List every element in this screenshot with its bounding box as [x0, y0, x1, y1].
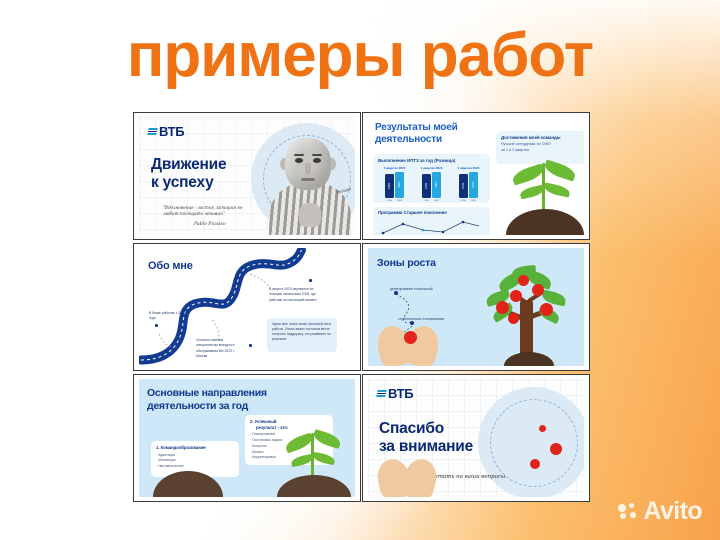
kpi-foot: план факт [384, 199, 406, 202]
sprout-leaf-right-2 [312, 452, 335, 465]
photo-hand [299, 203, 321, 227]
tree-apple-2 [532, 284, 544, 296]
kpi-foot-plan: план [422, 199, 431, 202]
apple-middle [550, 443, 562, 455]
kpi-bars: 101% 121% [458, 172, 480, 198]
hands-illustration [376, 324, 442, 366]
kpi-foot-plan: план [459, 199, 468, 202]
kpi-bar-plan: 108% [385, 174, 394, 198]
page-title: примеры работ [0, 25, 720, 87]
slide-1-photo-tag: Picasso [335, 186, 351, 195]
slide-4-canvas: Зоны роста делегирование полномочий стра… [368, 248, 584, 366]
slide-1-title-line1: Движение [151, 156, 226, 174]
soil-mound-right [277, 475, 351, 497]
kpi-bar-plan: 104% [422, 174, 431, 198]
slide-2-canvas: Результаты моей деятельности Выполнение … [368, 117, 584, 235]
kpi-bar-plan: 101% [459, 174, 468, 198]
tree-apple-1 [510, 290, 522, 302]
apple-top [539, 425, 546, 432]
kpi-bar-value: 101% [462, 183, 465, 189]
program-line-chart [379, 218, 483, 235]
picasso-photo: Picasso [265, 130, 353, 235]
kpi-bar-value: 112% [398, 182, 401, 188]
slide-5-title: Основные направления деятельности за год [147, 387, 267, 413]
sprout-leaf-right-2 [543, 182, 571, 197]
slide-3-marker-1 [155, 324, 158, 327]
kpi-foot-plan: план [385, 199, 394, 202]
slide-1-title: Движение к успеху [151, 156, 226, 193]
hands-illustration [376, 463, 438, 497]
success-item-1-label: Планирование [252, 432, 275, 436]
kpi-bar-fact: 121% [469, 172, 478, 198]
kpi-bars: 108% 112% [384, 172, 406, 198]
slide-2-title-line2: деятельности [375, 134, 458, 146]
slide-1-quote: "Вдохновение - гостья, которая не любит … [163, 205, 253, 218]
slide-6-title-line2: за внимание [379, 438, 473, 456]
seed-mound-illustration [153, 463, 223, 497]
sprout-leaf-right [312, 429, 342, 449]
apple-tree-illustration [474, 258, 582, 366]
tree-apple-5 [518, 275, 529, 286]
vtb-bars-icon [147, 128, 157, 135]
kpi-foot-fact: факт [395, 199, 404, 202]
photo-mouth [301, 178, 315, 181]
success-item-3-label: Контроль [252, 444, 267, 448]
vtb-wordmark: ВТБ [159, 124, 184, 139]
kpi-group: 2 квартал 2024 101% 121% план факт [458, 166, 480, 202]
avito-watermark: Avito [618, 497, 702, 526]
photo-eye-right [313, 158, 321, 163]
slide-thumbnail-5[interactable]: Основные направления деятельности за год… [133, 374, 361, 502]
slide-6-title: Спасибо за внимание [379, 420, 473, 457]
slide-3-note-3: В августе 2023 перевелся на позицию нача… [269, 287, 325, 303]
photo-brow-right [312, 154, 322, 156]
kpi-foot-fact: факт [432, 199, 441, 202]
soil-mound-left [153, 471, 223, 497]
slide-2-title-line1: Результаты моей [375, 122, 458, 134]
slide-thumbnail-4[interactable]: Зоны роста делегирование полномочий стра… [362, 243, 590, 371]
kpi-foot: план факт [458, 199, 480, 202]
vtb-bars-icon [376, 390, 386, 397]
achievements-card-title: Достижения моей команды [501, 135, 581, 140]
slide-grid: ВТБ Движение к успеху "Вдохновение - гос… [133, 112, 590, 502]
kpi-group: 4 квартал 2023 108% 112% план факт [384, 166, 406, 202]
slide-thumbnail-3[interactable]: Обо мне В банке работаю с 2015 года Снач… [133, 243, 361, 371]
slide-4-label-2: стратегическое планирование [398, 317, 444, 321]
slide-3-title: Обо мне [148, 260, 193, 272]
success-item-5-label: Корректировка [252, 455, 276, 459]
kpi-group-label: 1 квартал 2024 [421, 166, 443, 170]
slide-2-title: Результаты моей деятельности [375, 122, 458, 146]
slide-5-canvas: Основные направления деятельности за год… [139, 379, 355, 497]
slide-3-canvas: Обо мне В банке работаю с 2015 года Снач… [139, 248, 355, 366]
teambuilding-card-heading: 1. Командообразование [156, 445, 234, 451]
soil-mound [506, 209, 584, 235]
kpi-bar-value: 108% [388, 183, 391, 189]
kpi-bar-value: 104% [425, 183, 428, 189]
avito-dots-icon [618, 503, 638, 520]
vtb-logo: ВТБ [148, 124, 184, 139]
photo-nose [305, 163, 311, 175]
slide-1-signature: Pablo Picasso [194, 222, 226, 227]
slide-1-title-line2: к успеху [151, 174, 226, 192]
slide-4-label-1: делегирование полномочий [390, 287, 433, 291]
slide-3-note-1: В банке работаю с 2015 года [149, 311, 191, 322]
slide-thumbnail-6[interactable]: ВТБ Спасибо за внимание Буду рад ответит… [362, 374, 590, 502]
kpi-group-label: 2 квартал 2024 [458, 166, 480, 170]
apple-lower [530, 459, 540, 469]
teambuilding-item-1-label: Адаптация [158, 453, 175, 457]
sprout-illustration-right [277, 417, 351, 497]
kpi-group: 1 квартал 2024 104% 118% план факт [421, 166, 443, 202]
slide-1-canvas: ВТБ Движение к успеху "Вдохновение - гос… [139, 117, 355, 235]
teambuilding-item-2-label: Мотивация [158, 458, 175, 462]
falling-apple [404, 331, 417, 344]
slide-5-title-line1: Основные направления [147, 387, 267, 400]
slide-3-marker-3 [309, 279, 312, 282]
tree-apple-3 [496, 301, 509, 314]
tree-trunk [520, 300, 533, 356]
kpi-card-title: Выполнение ИПТЗ за год (Розница) [373, 154, 490, 163]
vtb-wordmark: ВТБ [388, 386, 413, 401]
hand-right [402, 323, 442, 366]
photo-brow-left [294, 154, 304, 156]
kpi-foot-fact: факт [469, 199, 478, 202]
tree-apple-4 [540, 303, 553, 316]
slide-5-title-line2: деятельности за год [147, 400, 267, 413]
slide-3-marker-2 [249, 344, 252, 347]
tree-soil-mound [504, 352, 554, 366]
slide-6-title-line1: Спасибо [379, 420, 473, 438]
kpi-bars: 104% 118% [421, 172, 443, 198]
sprout-leaf-left [284, 433, 314, 454]
sprout-illustration [506, 143, 584, 235]
kpi-bar-fact: 112% [395, 172, 404, 198]
slide-thumbnail-1[interactable]: ВТБ Движение к успеху "Вдохновение - гос… [133, 112, 361, 240]
kpi-group-label: 4 квартал 2023 [384, 166, 406, 170]
slide-thumbnail-2[interactable]: Результаты моей деятельности Выполнение … [362, 112, 590, 240]
slide-3-note-2: Сначала главным специалистом выездного о… [196, 338, 242, 359]
kpi-bar-groups: 4 квартал 2023 108% 112% план факт 1 ква… [373, 166, 490, 202]
avito-wordmark: Avito [643, 497, 702, 526]
slide-3-highlight-card: Здесь мне очень помог прошлый опыт работ… [267, 318, 337, 352]
kpi-bar-value: 121% [472, 182, 475, 188]
kpi-bar-value: 118% [435, 182, 438, 188]
slide-4-title: Зоны роста [377, 257, 436, 269]
photo-eye-left [295, 158, 303, 163]
sprout-leaf-left [511, 163, 545, 185]
kpi-foot: план факт [421, 199, 443, 202]
kpi-card: Выполнение ИПТЗ за год (Розница) 4 кварт… [373, 154, 490, 203]
sprout-leaf-left-2 [519, 185, 545, 200]
kpi-bar-fact: 118% [432, 172, 441, 198]
program-card: Программа Старшее поколение [373, 207, 490, 235]
vtb-logo: ВТБ [377, 386, 413, 401]
program-card-title: Программа Старшее поколение [373, 207, 490, 215]
success-item-4-label: Анализ [252, 450, 263, 454]
slide-6-canvas: ВТБ Спасибо за внимание Буду рад ответит… [368, 379, 584, 497]
tree-apple-6 [508, 313, 519, 324]
sprout-leaf-right [543, 159, 577, 181]
